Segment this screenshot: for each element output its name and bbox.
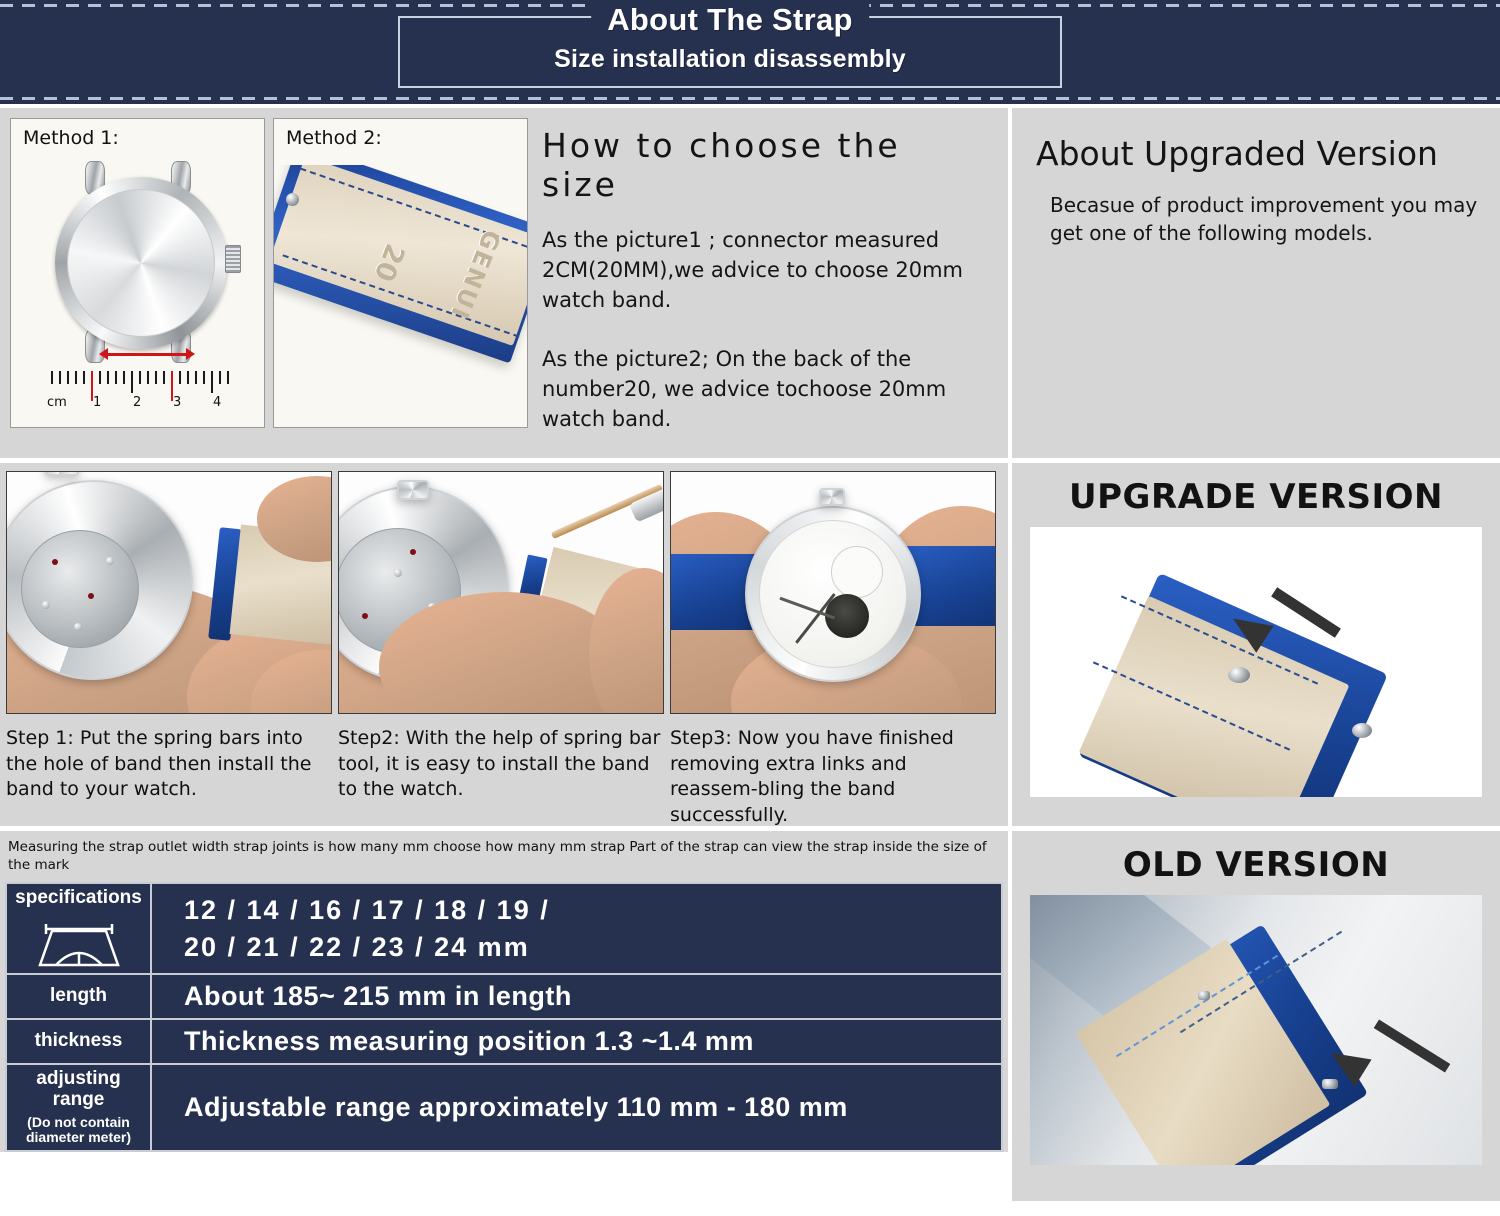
spec-sizes-line-1: 12 / 14 / 16 / 17 / 18 / 19 / [184,892,1001,928]
table-row: thickness Thickness measuring position 1… [6,1019,1002,1064]
step-2-photo [338,471,664,714]
strap-end-icon [26,915,132,967]
how-to-choose-block: How to choose the size As the picture1 ;… [528,108,1008,458]
page-title: About The Strap [591,2,869,38]
strap-underside-photo: 20 GENUI [273,165,528,415]
spec-key-label: adjusting range [36,1068,120,1110]
step-2-caption: Step2: With the help of spring bar tool,… [338,726,664,829]
upgrade-version-photo [1030,527,1482,797]
spring-bar-pin-icon [1198,991,1210,1000]
spring-bar-icon [286,193,299,206]
spec-value-cell: Adjustable range approximately 110 mm - … [151,1064,1002,1151]
installation-steps-section: Step 1: Put the spring bars into the hol… [0,463,1008,826]
old-version-panel: OLD VERSION [1012,831,1500,1201]
quick-release-pin-icon [1352,723,1372,738]
watch-dial-icon [67,189,215,337]
spec-key-cell: thickness [6,1019,151,1064]
spec-key-cell: adjusting range (Do not contain diameter… [6,1064,151,1151]
left-column: Method 1: [0,108,1008,1152]
step-3-photo [670,471,996,714]
spec-key-sublabel: (Do not contain diameter meter) [9,1115,148,1146]
step-captions: Step 1: Put the spring bars into the hol… [0,714,1008,829]
pointer-arrow-icon [1230,595,1334,661]
specifications-table: specifications 12 / 14 / 16 / 17 / 18 / … [5,882,1003,1151]
banner-title-box: About The Strap Size installation disass… [398,16,1062,88]
ruler-unit-label: cm [47,395,67,410]
method-2-label: Method 2: [286,127,382,149]
method-cards: Method 1: [0,108,528,458]
how-to-paragraph-1: As the picture1 ; connector measured 2CM… [542,226,988,315]
ruler-tick-label: 2 [133,395,141,410]
ruler-tick-label: 3 [173,395,181,410]
upgrade-version-panel: UPGRADE VERSION [1012,463,1500,826]
upgraded-heading: About Upgraded Version [1036,134,1482,173]
how-to-paragraph-2: As the picture2; On the back of the numb… [542,345,988,434]
specifications-section: Measuring the strap outlet width strap j… [0,831,1008,1152]
old-version-heading: OLD VERSION [1012,845,1500,885]
method-1-card: Method 1: [10,118,265,428]
spec-key-label: specifications [15,887,142,908]
step-1-photo [6,471,332,714]
step-3-caption: Step3: Now you have finished removing ex… [670,726,996,829]
about-upgraded-version-panel: About Upgraded Version Becasue of produc… [1012,108,1500,458]
spec-key-cell: specifications [6,883,151,974]
spec-value-cell: About 185~ 215 mm in length [151,974,1002,1019]
method-2-card: Method 2: 20 GENUI [273,118,528,428]
measurement-arrow-icon [99,347,195,361]
upgraded-paragraph: Becasue of product improvement you may g… [1036,191,1482,248]
ruler-tick-label: 4 [213,395,221,410]
quick-release-pin-icon [1228,667,1250,683]
size-guide-section: Method 1: [0,108,1008,458]
watch-case-icon [55,177,227,349]
header-banner: About The Strap Size installation disass… [0,0,1500,104]
watch-case-diagram [39,161,239,366]
ruler-tick-label: 1 [93,395,101,410]
table-row: length About 185~ 215 mm in length [6,974,1002,1019]
ruler-diagram: cm 1 2 3 4 [47,371,237,415]
page-subtitle: Size installation disassembly [554,45,906,74]
infographic-page: About The Strap Size installation disass… [0,0,1500,1216]
spec-value-cell: Thickness measuring position 1.3 ~1.4 mm [151,1019,1002,1064]
banner-dashed-line-bottom [0,97,1500,100]
step-photos [0,471,1008,714]
method-1-label: Method 1: [23,127,119,149]
spec-value-cell: 12 / 14 / 16 / 17 / 18 / 19 / 20 / 21 / … [151,883,1002,974]
old-version-photo [1030,895,1482,1165]
spec-note: Measuring the strap outlet width strap j… [0,831,1008,882]
how-to-heading: How to choose the size [542,126,988,204]
upgrade-version-heading: UPGRADE VERSION [1012,477,1500,517]
step-1-caption: Step 1: Put the spring bars into the hol… [6,726,332,829]
table-row: adjusting range (Do not contain diameter… [6,1064,1002,1151]
watch-crown-icon [225,245,241,273]
pointer-arrow-icon [1326,1023,1456,1103]
table-row: specifications 12 / 14 / 16 / 17 / 18 / … [6,883,1002,974]
spec-sizes-line-2: 20 / 21 / 22 / 23 / 24 mm [184,929,1001,965]
ruler-ticks [47,371,237,393]
spec-key-cell: length [6,974,151,1019]
right-column: About Upgraded Version Becasue of produc… [1012,108,1500,1201]
